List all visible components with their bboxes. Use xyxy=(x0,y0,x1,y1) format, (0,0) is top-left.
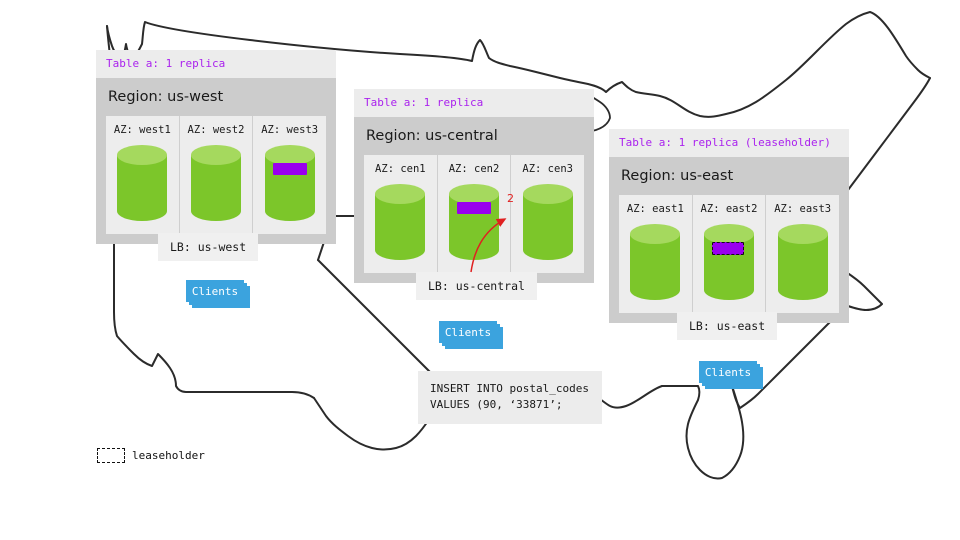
clients-us-central[interactable]: Clients xyxy=(439,321,497,343)
replica-range-west3[interactable] xyxy=(273,163,307,175)
node-cylinder-cen3[interactable] xyxy=(522,183,574,261)
clients-us-east[interactable]: Clients xyxy=(699,361,757,383)
replica-range-east2-leaseholder[interactable] xyxy=(712,242,744,255)
panel-body-us-central: Region: us-central AZ: cen1 AZ: cen2 xyxy=(354,117,594,283)
az-label-west3: AZ: west3 xyxy=(261,124,318,136)
cylinder-icon xyxy=(703,223,755,301)
panel-body-us-west: Region: us-west AZ: west1 AZ: west2 xyxy=(96,78,336,244)
az-label-west2: AZ: west2 xyxy=(188,124,245,136)
cylinder-icon xyxy=(264,144,316,222)
cylinder-icon xyxy=(190,144,242,222)
az-cell-east1[interactable]: AZ: east1 xyxy=(619,195,693,313)
clients-label[interactable]: Clients xyxy=(699,361,757,383)
dashed-rectangle-icon xyxy=(97,448,125,463)
az-row-us-east: AZ: east1 AZ: east2 xyxy=(619,195,839,313)
legend-label: leaseholder xyxy=(132,449,205,462)
panel-body-us-east: Region: us-east AZ: east1 AZ: east2 xyxy=(609,157,849,323)
region-panel-us-west: Table a: 1 replica Region: us-west AZ: w… xyxy=(96,50,336,244)
az-cell-west2[interactable]: AZ: west2 xyxy=(180,116,254,234)
node-cylinder-cen1[interactable] xyxy=(374,183,426,261)
node-cylinder-west1[interactable] xyxy=(116,144,168,222)
replica-range-cen2[interactable] xyxy=(457,202,491,214)
az-label-east3: AZ: east3 xyxy=(774,203,831,215)
panel-header-us-east: Table a: 1 replica (leaseholder) xyxy=(609,129,849,157)
region-title-us-west: Region: us-west xyxy=(106,78,326,116)
az-label-cen1: AZ: cen1 xyxy=(375,163,426,175)
az-cell-cen1[interactable]: AZ: cen1 xyxy=(364,155,438,273)
node-cylinder-cen2[interactable] xyxy=(448,183,500,261)
az-cell-cen3[interactable]: AZ: cen3 xyxy=(511,155,584,273)
az-label-west1: AZ: west1 xyxy=(114,124,171,136)
cylinder-icon xyxy=(777,223,829,301)
az-cell-west3[interactable]: AZ: west3 xyxy=(253,116,326,234)
region-title-us-east: Region: us-east xyxy=(619,157,839,195)
az-cell-cen2[interactable]: AZ: cen2 xyxy=(438,155,512,273)
region-panel-us-east: Table a: 1 replica (leaseholder) Region:… xyxy=(609,129,849,323)
az-label-east2: AZ: east2 xyxy=(701,203,758,215)
cylinder-icon xyxy=(629,223,681,301)
az-cell-east2[interactable]: AZ: east2 xyxy=(693,195,767,313)
sql-statement-box: INSERT INTO postal_codes VALUES (90, ‘33… xyxy=(418,371,602,424)
az-label-east1: AZ: east1 xyxy=(627,203,684,215)
az-label-cen2: AZ: cen2 xyxy=(449,163,500,175)
node-cylinder-west2[interactable] xyxy=(190,144,242,222)
clients-label[interactable]: Clients xyxy=(439,321,497,343)
az-row-us-west: AZ: west1 AZ: west2 AZ xyxy=(106,116,326,234)
node-cylinder-east3[interactable] xyxy=(777,223,829,301)
gulf-coast xyxy=(662,386,743,479)
panel-header-us-central: Table a: 1 replica xyxy=(354,89,594,117)
clients-label[interactable]: Clients xyxy=(186,280,244,302)
cylinder-icon xyxy=(116,144,168,222)
az-cell-east3[interactable]: AZ: east3 xyxy=(766,195,839,313)
az-label-cen3: AZ: cen3 xyxy=(522,163,573,175)
node-cylinder-east1[interactable] xyxy=(629,223,681,301)
node-cylinder-west3[interactable] xyxy=(264,144,316,222)
cylinder-icon xyxy=(448,183,500,261)
legend: leaseholder xyxy=(97,448,205,463)
load-balancer-us-east[interactable]: LB: us-east xyxy=(677,312,777,340)
panel-header-us-west: Table a: 1 replica xyxy=(96,50,336,78)
load-balancer-us-west[interactable]: LB: us-west xyxy=(158,233,258,261)
az-cell-west1[interactable]: AZ: west1 xyxy=(106,116,180,234)
region-panel-us-central: Table a: 1 replica Region: us-central AZ… xyxy=(354,89,594,283)
clients-us-west[interactable]: Clients xyxy=(186,280,244,302)
az-row-us-central: AZ: cen1 AZ: cen2 xyxy=(364,155,584,273)
cylinder-icon xyxy=(374,183,426,261)
load-balancer-us-central[interactable]: LB: us-central xyxy=(416,272,537,300)
region-title-us-central: Region: us-central xyxy=(364,117,584,155)
step-number-2: 2 xyxy=(507,192,514,205)
node-cylinder-east2[interactable] xyxy=(703,223,755,301)
cylinder-icon xyxy=(522,183,574,261)
